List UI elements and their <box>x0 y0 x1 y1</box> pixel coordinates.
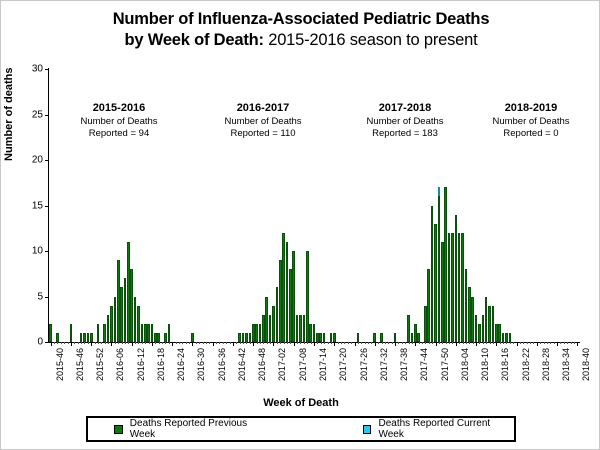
bar-segment-previous-week <box>427 269 430 342</box>
bar-segment-previous-week <box>498 324 501 342</box>
bar-segment-previous-week <box>475 315 478 342</box>
bar-2017-19 <box>330 333 333 342</box>
x-tick-minor-2016-35 <box>209 342 210 344</box>
x-tick-minor-2017-48 <box>429 342 430 344</box>
bar-2017-04 <box>279 260 282 342</box>
x-tick-mark-2015-52 <box>91 342 92 346</box>
bar-segment-previous-week <box>303 315 306 342</box>
bar-2015-40 <box>49 324 52 342</box>
x-tick-minor-2017-52 <box>442 342 443 344</box>
legend-swatch-previous-week-icon <box>114 425 123 434</box>
bar-segment-previous-week <box>249 333 252 342</box>
x-tick-minor-2016-40 <box>226 342 227 344</box>
x-tick-minor-2017-29 <box>365 342 366 344</box>
bar-2018-13 <box>485 297 488 343</box>
bar-2016-50 <box>259 324 262 342</box>
x-tick-minor-2016-10 <box>125 342 126 344</box>
season-name-2018-2019: 2018-2019 <box>466 101 596 116</box>
x-tick-minor-2016-52 <box>267 342 268 344</box>
bar-2016-05 <box>107 315 110 342</box>
x-tick-label-2015-40: 2015-40 <box>55 348 65 381</box>
bar-2018-06 <box>461 233 464 342</box>
bar-segment-previous-week <box>130 269 133 342</box>
season-annotation-2018-2019: 2018-2019Number of DeathsReported = 0 <box>466 101 596 141</box>
x-tick-minor-2016-13 <box>135 342 136 344</box>
x-tick-minor-2017-17 <box>324 342 325 344</box>
x-tick-mark-2015-40 <box>51 342 52 346</box>
bar-2017-34 <box>380 333 383 342</box>
x-tick-minor-2016-08 <box>118 342 119 344</box>
chart-frame: Number of Influenza-Associated Pediatric… <box>0 0 600 450</box>
bar-2016-51 <box>262 315 265 342</box>
x-tick-minor-2017-36 <box>388 342 389 344</box>
x-tick-minor-2018-36 <box>564 342 565 344</box>
x-tick-minor-2017-30 <box>368 342 369 344</box>
bar-2016-52 <box>265 297 268 343</box>
bar-segment-previous-week <box>80 333 83 342</box>
bar-2018-10 <box>475 315 478 342</box>
x-tick-minor-2015-44 <box>64 342 65 344</box>
bar-2018-02 <box>448 233 451 342</box>
x-tick-minor-2018-08 <box>469 342 470 344</box>
bar-2016-23 <box>168 324 171 342</box>
x-tick-label-2017-44: 2017-44 <box>419 348 429 381</box>
bar-2016-02 <box>97 324 100 342</box>
bar-2017-42 <box>407 315 410 342</box>
x-tick-minor-2016-39 <box>223 342 224 344</box>
bar-segment-previous-week <box>134 297 137 343</box>
bar-2018-14 <box>488 306 491 342</box>
bar-2016-30 <box>191 333 194 342</box>
bar-segment-previous-week <box>458 233 461 342</box>
bar-2016-47 <box>249 333 252 342</box>
bar-segment-previous-week <box>286 242 289 342</box>
bar-2016-48 <box>252 324 255 342</box>
x-tick-label-2017-50: 2017-50 <box>440 348 450 381</box>
season-annotation-2016-2017: 2016-2017Number of DeathsReported = 110 <box>198 101 328 141</box>
bar-2017-12 <box>306 251 309 342</box>
x-tick-label-2018-04: 2018-04 <box>460 348 470 381</box>
bar-2016-06 <box>110 306 113 342</box>
chart-title: Number of Influenza-Associated Pediatric… <box>1 9 600 51</box>
bar-segment-previous-week <box>434 224 437 342</box>
x-tick-minor-2018-29 <box>540 342 541 344</box>
bar-2018-08 <box>468 287 471 342</box>
x-tick-mark-2017-50 <box>436 342 437 346</box>
y-tick-mark-20 <box>45 160 49 161</box>
x-tick-minor-2016-01 <box>95 342 96 344</box>
bar-2016-45 <box>242 333 245 342</box>
x-tick-minor-2017-05 <box>284 342 285 344</box>
x-tick-mark-2017-32 <box>375 342 376 346</box>
x-tick-minor-2018-12 <box>483 342 484 344</box>
x-tick-label-2018-22: 2018-22 <box>521 348 531 381</box>
bar-segment-previous-week <box>262 315 265 342</box>
bar-segment-previous-week <box>306 251 309 342</box>
x-tick-minor-2016-22 <box>165 342 166 344</box>
x-tick-minor-2018-07 <box>466 342 467 344</box>
x-tick-label-2017-32: 2017-32 <box>379 348 389 381</box>
x-tick-minor-2016-47 <box>250 342 251 344</box>
x-tick-minor-2016-14 <box>138 342 139 344</box>
x-tick-minor-2015-47 <box>74 342 75 344</box>
bar-segment-previous-week <box>114 297 117 343</box>
bar-2018-18 <box>502 333 505 342</box>
bar-segment-previous-week <box>316 333 319 342</box>
x-tick-minor-2017-51 <box>439 342 440 344</box>
x-tick-mark-2017-38 <box>395 342 396 346</box>
x-tick-minor-2017-34 <box>382 342 383 344</box>
season-annotation-2017-2018: 2017-2018Number of DeathsReported = 183 <box>340 101 470 141</box>
bar-segment-previous-week <box>144 324 147 342</box>
x-tick-label-2017-20: 2017-20 <box>338 348 348 381</box>
x-tick-minor-2017-33 <box>378 342 379 344</box>
x-tick-minor-2018-20 <box>510 342 511 344</box>
x-tick-minor-2016-02 <box>98 342 99 344</box>
bar-segment-previous-week <box>417 333 420 342</box>
x-tick-mark-2017-44 <box>415 342 416 346</box>
x-tick-minor-2015-41 <box>54 342 55 344</box>
x-tick-minor-2018-35 <box>560 342 561 344</box>
x-tick-minor-2017-06 <box>287 342 288 344</box>
x-tick-minor-2018-37 <box>567 342 568 344</box>
x-tick-minor-2018-30 <box>544 342 545 344</box>
bar-2017-08 <box>292 251 295 342</box>
bar-segment-previous-week <box>488 306 491 342</box>
x-tick-minor-2015-50 <box>84 342 85 344</box>
bar-2016-16 <box>144 324 147 342</box>
x-tick-label-2016-48: 2016-48 <box>257 348 267 381</box>
x-tick-minor-2018-18 <box>503 342 504 344</box>
bar-2016-22 <box>164 333 167 342</box>
x-tick-minor-2018-05 <box>459 342 460 344</box>
x-tick-label-2016-06: 2016-06 <box>115 348 125 381</box>
bar-2017-06 <box>286 242 289 342</box>
bar-segment-previous-week <box>269 315 272 342</box>
season-name-2015-2016: 2015-2016 <box>54 101 184 116</box>
bar-2017-11 <box>303 315 306 342</box>
season-deaths-total-2018-2019: Reported = 0 <box>466 128 596 141</box>
bar-segment-previous-week <box>103 324 106 342</box>
x-tick-minor-2017-45 <box>419 342 420 344</box>
x-tick-minor-2018-26 <box>530 342 531 344</box>
bar-2016-07 <box>114 297 117 343</box>
bar-segment-previous-week <box>289 269 292 342</box>
bar-segment-previous-week <box>357 333 360 342</box>
bar-2017-07 <box>289 269 292 342</box>
bar-segment-previous-week <box>137 306 140 342</box>
season-deaths-total-2016-2017: Reported = 110 <box>198 128 328 141</box>
bar-segment-previous-week <box>282 233 285 342</box>
x-tick-minor-2017-19 <box>331 342 332 344</box>
x-tick-mark-2018-04 <box>456 342 457 346</box>
bar-segment-previous-week <box>373 333 376 342</box>
bar-segment-previous-week <box>265 297 268 343</box>
x-tick-minor-2016-05 <box>108 342 109 344</box>
y-tick-mark-0 <box>45 342 49 343</box>
x-tick-label-2018-10: 2018-10 <box>480 348 490 381</box>
x-tick-label-2018-34: 2018-34 <box>561 348 571 381</box>
bar-segment-current-week <box>438 187 441 196</box>
x-tick-minor-2018-23 <box>520 342 521 344</box>
x-tick-minor-2016-07 <box>115 342 116 344</box>
bar-segment-previous-week <box>505 333 508 342</box>
bar-2016-20 <box>157 333 160 342</box>
season-deaths-total-2015-2016: Reported = 94 <box>54 128 184 141</box>
bar-segment-previous-week <box>424 306 427 342</box>
x-axis-label: Week of Death <box>1 397 600 409</box>
x-tick-minor-2017-21 <box>338 342 339 344</box>
x-tick-label-2015-46: 2015-46 <box>75 348 85 381</box>
bar-segment-previous-week <box>110 306 113 342</box>
x-tick-label-2017-08: 2017-08 <box>298 348 308 381</box>
x-tick-mark-2018-34 <box>557 342 558 346</box>
x-tick-mark-2017-14 <box>314 342 315 346</box>
bar-segment-previous-week <box>83 333 86 342</box>
bar-2017-45 <box>417 333 420 342</box>
x-tick-minor-2017-13 <box>311 342 312 344</box>
bar-2015-52 <box>90 333 93 342</box>
x-tick-minor-2016-29 <box>189 342 190 344</box>
x-tick-minor-2018-13 <box>486 342 487 344</box>
bar-segment-previous-week <box>468 287 471 342</box>
bar-segment-previous-week <box>147 324 150 342</box>
bar-2016-14 <box>137 306 140 342</box>
bar-segment-previous-week <box>87 333 90 342</box>
x-tick-label-2015-52: 2015-52 <box>95 348 105 381</box>
bar-2016-15 <box>141 324 144 342</box>
x-tick-minor-2017-23 <box>344 342 345 344</box>
bar-segment-previous-week <box>279 260 282 342</box>
bar-segment-previous-week <box>49 324 52 342</box>
bar-segment-previous-week <box>495 324 498 342</box>
x-tick-minor-2016-28 <box>186 342 187 344</box>
title-line-2: by Week of Death: 2015-2016 season to pr… <box>1 30 600 51</box>
bar-segment-previous-week <box>323 333 326 342</box>
x-tick-minor-2017-07 <box>290 342 291 344</box>
legend-label-current-week: Deaths Reported Current Week <box>378 418 514 440</box>
bar-2018-07 <box>465 269 468 342</box>
x-tick-minor-2016-17 <box>149 342 150 344</box>
bar-2017-09 <box>296 315 299 342</box>
x-tick-minor-2016-25 <box>176 342 177 344</box>
bar-2017-51 <box>438 187 441 342</box>
bar-segment-previous-week <box>141 324 144 342</box>
bar-2017-17 <box>323 333 326 342</box>
bar-segment-previous-week <box>120 287 123 342</box>
x-tick-minor-2018-01 <box>446 342 447 344</box>
x-tick-minor-2016-21 <box>162 342 163 344</box>
bar-2017-44 <box>414 324 417 342</box>
x-tick-label-2017-26: 2017-26 <box>359 348 369 381</box>
bar-segment-previous-week <box>438 196 441 342</box>
bar-segment-previous-week <box>394 333 397 342</box>
x-tick-minor-2017-09 <box>297 342 298 344</box>
x-tick-minor-2016-16 <box>145 342 146 344</box>
x-tick-minor-2017-18 <box>328 342 329 344</box>
bar-2016-44 <box>238 333 241 342</box>
x-tick-minor-2016-27 <box>182 342 183 344</box>
bar-2016-49 <box>255 324 258 342</box>
bar-segment-previous-week <box>431 206 434 343</box>
bar-2018-16 <box>495 324 498 342</box>
bar-2015-50 <box>83 333 86 342</box>
x-tick-mark-2016-48 <box>253 342 254 346</box>
bar-segment-previous-week <box>276 287 279 342</box>
bar-segment-previous-week <box>478 324 481 342</box>
bar-segment-previous-week <box>238 333 241 342</box>
x-tick-minor-2017-40 <box>402 342 403 344</box>
x-tick-minor-2016-41 <box>230 342 231 344</box>
x-tick-minor-2018-32 <box>550 342 551 344</box>
x-tick-minor-2017-24 <box>348 342 349 344</box>
x-tick-minor-2018-21 <box>513 342 514 344</box>
x-tick-minor-2017-25 <box>351 342 352 344</box>
y-tick-mark-30 <box>45 69 49 70</box>
bar-2018-09 <box>471 297 474 343</box>
season-deaths-caption-2017-2018: Number of Deaths <box>340 116 470 129</box>
bar-2017-43 <box>411 333 414 342</box>
x-tick-minor-2018-09 <box>473 342 474 344</box>
bar-2018-20 <box>509 333 512 342</box>
bar-2017-49 <box>431 206 434 343</box>
bar-2018-12 <box>482 315 485 342</box>
x-tick-mark-2016-18 <box>152 342 153 346</box>
bar-2017-02 <box>272 306 275 342</box>
x-tick-label-2018-28: 2018-28 <box>541 348 551 381</box>
bar-2018-15 <box>492 306 495 342</box>
x-tick-minor-2018-24 <box>523 342 524 344</box>
bar-segment-previous-week <box>502 333 505 342</box>
bar-2017-32 <box>373 333 376 342</box>
x-tick-minor-2015-51 <box>88 342 89 344</box>
x-tick-minor-2016-32 <box>199 342 200 344</box>
x-tick-minor-2017-42 <box>409 342 410 344</box>
x-tick-minor-2016-09 <box>122 342 123 344</box>
bar-2015-51 <box>87 333 90 342</box>
x-tick-minor-2017-03 <box>277 342 278 344</box>
bar-segment-previous-week <box>90 333 93 342</box>
x-tick-minor-2018-11 <box>479 342 480 344</box>
bar-2017-20 <box>333 333 336 342</box>
x-tick-mark-2018-22 <box>517 342 518 346</box>
x-tick-minor-2018-31 <box>547 342 548 344</box>
bar-segment-previous-week <box>252 324 255 342</box>
bar-2017-03 <box>276 287 279 342</box>
bar-segment-previous-week <box>97 324 100 342</box>
bar-2016-11 <box>127 242 130 342</box>
bar-segment-previous-week <box>296 315 299 342</box>
x-tick-mark-2018-10 <box>476 342 477 346</box>
x-tick-label-2017-14: 2017-14 <box>318 348 328 381</box>
season-deaths-caption-2015-2016: Number of Deaths <box>54 116 184 129</box>
bar-segment-previous-week <box>245 333 248 342</box>
x-tick-mark-2016-24 <box>172 342 173 346</box>
bar-segment-previous-week <box>151 324 154 342</box>
x-tick-minor-2017-15 <box>317 342 318 344</box>
x-tick-minor-2018-19 <box>506 342 507 344</box>
x-tick-minor-2017-16 <box>321 342 322 344</box>
bar-segment-previous-week <box>441 242 444 342</box>
x-tick-minor-2017-10 <box>300 342 301 344</box>
y-tick-mark-5 <box>45 297 49 298</box>
x-tick-mark-2016-42 <box>233 342 234 346</box>
x-tick-minor-2018-25 <box>527 342 528 344</box>
x-tick-minor-2017-11 <box>304 342 305 344</box>
x-tick-minor-2016-31 <box>196 342 197 344</box>
x-tick-minor-2017-39 <box>398 342 399 344</box>
bar-segment-previous-week <box>154 333 157 342</box>
x-tick-label-2017-02: 2017-02 <box>277 348 287 381</box>
x-tick-minor-2018-02 <box>449 342 450 344</box>
x-tick-minor-2017-49 <box>432 342 433 344</box>
bar-segment-previous-week <box>157 333 160 342</box>
x-tick-mark-2017-20 <box>334 342 335 346</box>
x-tick-minor-2016-15 <box>142 342 143 344</box>
bar-segment-previous-week <box>56 333 59 342</box>
x-tick-minor-2016-43 <box>236 342 237 344</box>
x-tick-minor-2016-20 <box>159 342 160 344</box>
x-tick-minor-2018-03 <box>452 342 453 344</box>
x-tick-minor-2018-14 <box>490 342 491 344</box>
season-deaths-total-2017-2018: Reported = 183 <box>340 128 470 141</box>
bar-2016-19 <box>154 333 157 342</box>
x-tick-minor-2016-44 <box>240 342 241 344</box>
bar-2016-18 <box>151 324 154 342</box>
bar-2016-10 <box>124 278 127 342</box>
bar-segment-previous-week <box>448 233 451 342</box>
x-tick-minor-2017-47 <box>425 342 426 344</box>
x-tick-label-2016-42: 2016-42 <box>237 348 247 381</box>
bar-2017-14 <box>313 324 316 342</box>
title-line-2-bold: by Week of Death: <box>125 31 264 49</box>
bar-segment-previous-week <box>492 306 495 342</box>
chart-legend: Deaths Reported Previous Week Deaths Rep… <box>86 416 516 442</box>
bar-2017-27 <box>357 333 360 342</box>
x-tick-mark-2016-30 <box>192 342 193 346</box>
x-tick-minor-2016-49 <box>257 342 258 344</box>
bar-segment-previous-week <box>330 333 333 342</box>
bar-2016-13 <box>134 297 137 343</box>
bar-segment-previous-week <box>313 324 316 342</box>
bar-segment-previous-week <box>461 233 464 342</box>
x-tick-minor-2015-49 <box>81 342 82 344</box>
x-tick-mark-2017-08 <box>294 342 295 346</box>
bar-segment-previous-week <box>127 242 130 342</box>
x-tick-minor-2017-28 <box>361 342 362 344</box>
x-tick-minor-2016-23 <box>169 342 170 344</box>
bar-2017-10 <box>299 315 302 342</box>
x-tick-mark-2018-40 <box>577 342 578 346</box>
legend-label-previous-week: Deaths Reported Previous Week <box>130 418 271 440</box>
x-tick-minor-2017-27 <box>358 342 359 344</box>
legend-item-previous-week: Deaths Reported Previous Week <box>114 418 271 440</box>
bar-segment-previous-week <box>272 306 275 342</box>
bar-2018-03 <box>451 233 454 342</box>
x-tick-minor-2018-17 <box>500 342 501 344</box>
x-tick-label-2017-38: 2017-38 <box>399 348 409 381</box>
bar-2016-09 <box>120 287 123 342</box>
bar-2017-05 <box>282 233 285 342</box>
bar-2017-48 <box>427 269 430 342</box>
bar-2015-46 <box>70 324 73 342</box>
x-tick-minor-2017-46 <box>422 342 423 344</box>
x-tick-label-2016-36: 2016-36 <box>217 348 227 381</box>
bar-2016-17 <box>147 324 150 342</box>
bar-segment-previous-week <box>451 233 454 342</box>
x-tick-minor-2017-12 <box>307 342 308 344</box>
season-name-2016-2017: 2016-2017 <box>198 101 328 116</box>
